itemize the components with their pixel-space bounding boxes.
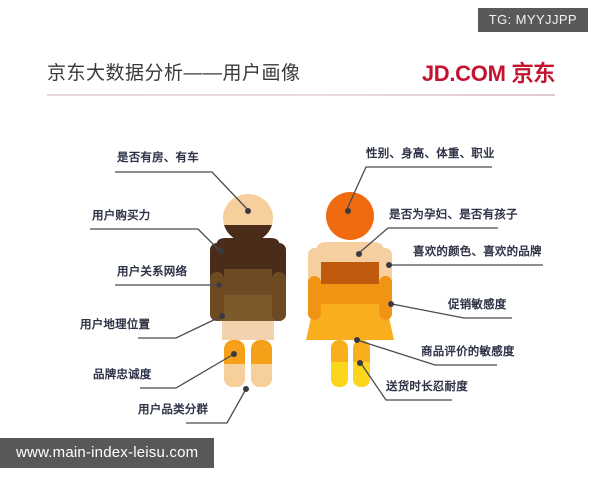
female-dress-upper (314, 284, 386, 304)
label-geo-location: 用户地理位置 (80, 319, 150, 332)
jd-logo-latin: JD.COM (422, 61, 506, 86)
page-title: 京东大数据分析——用户画像 (47, 58, 301, 85)
label-brand-loyalty: 品牌忠诚度 (93, 369, 152, 382)
male-arm-left (210, 243, 224, 321)
female-band (316, 262, 384, 284)
male-arm-right (272, 243, 286, 321)
dot-brand-loyalty (231, 351, 237, 357)
female-arm-right (379, 248, 392, 320)
label-pregnancy-children: 是否为孕妇、是否有孩子 (389, 209, 518, 222)
label-demographics: 性别、身高、体重、职业 (366, 148, 495, 161)
dot-pregnancy-children (356, 251, 362, 257)
tg-watermark-badge: TG: MYYJJPP (478, 8, 588, 32)
female-head (326, 192, 374, 240)
right-connector-lines (347, 167, 543, 400)
dot-promotion-sensitivity (388, 301, 394, 307)
site-watermark: www.main-index-leisu.com (0, 438, 214, 468)
label-delivery-patience: 送货时长忍耐度 (386, 381, 468, 394)
male-head (223, 194, 273, 242)
slide-canvas: TG: MYYJJPP 京东大数据分析——用户画像 JD.COM京东 (0, 0, 600, 480)
label-purchasing-power: 用户购买力 (92, 210, 151, 223)
dot-relationship-network (216, 282, 221, 287)
label-relationship-network: 用户关系网络 (117, 266, 187, 279)
male-foot-left (224, 364, 245, 387)
connector-demographics (347, 167, 492, 209)
female-leg-right (353, 340, 370, 387)
male-hair (224, 225, 272, 242)
male-leg-left (224, 340, 245, 387)
connector-geo-location (138, 316, 222, 338)
female-foot-left (331, 362, 348, 387)
dot-color-brand-preference (386, 262, 392, 268)
slide-header: 京东大数据分析——用户画像 JD.COM京东 (47, 58, 555, 98)
female-leg-left (331, 340, 348, 387)
connector-housing-vehicle (115, 172, 248, 210)
female-arm-left-lower (308, 276, 321, 320)
male-persona-figure (210, 194, 286, 387)
male-leg-right (251, 340, 272, 387)
male-arm-right-lower (272, 272, 286, 321)
female-persona-figure (306, 192, 394, 387)
dot-category-segmentation (243, 386, 249, 392)
label-promotion-sensitivity: 促销敏感度 (448, 299, 507, 312)
connector-brand-loyalty (140, 354, 234, 388)
male-torso-mid (216, 269, 280, 295)
male-hips (222, 321, 274, 340)
dot-review-sensitivity (354, 337, 360, 343)
female-shoulders (316, 242, 384, 262)
dot-purchasing-power (218, 248, 224, 254)
male-arm-left-lower (210, 272, 224, 321)
right-connector-dots (345, 208, 394, 366)
jd-logo-cn: 京东 (512, 61, 555, 86)
label-housing-vehicle: 是否有房、有车 (117, 152, 199, 165)
female-dress-skirt (306, 304, 394, 340)
female-arm-left (308, 248, 321, 320)
label-color-brand-preference: 喜欢的颜色、喜欢的品牌 (413, 246, 542, 259)
dot-housing-vehicle (245, 208, 251, 214)
label-category-segmentation: 用户品类分群 (138, 404, 208, 417)
left-connector-dots (216, 208, 251, 392)
dot-demographics (345, 208, 351, 214)
male-foot-right (251, 364, 272, 387)
male-torso-lower (216, 295, 280, 321)
label-review-sensitivity: 商品评价的敏感度 (421, 346, 515, 359)
jd-logo: JD.COM京东 (422, 56, 555, 88)
female-foot-right (353, 362, 370, 387)
female-arm-right-lower (379, 276, 392, 320)
dot-geo-location (219, 313, 225, 319)
male-torso-upper (216, 238, 280, 269)
dot-delivery-patience (357, 360, 363, 366)
connector-purchasing-power (90, 229, 220, 251)
header-divider (47, 94, 555, 96)
